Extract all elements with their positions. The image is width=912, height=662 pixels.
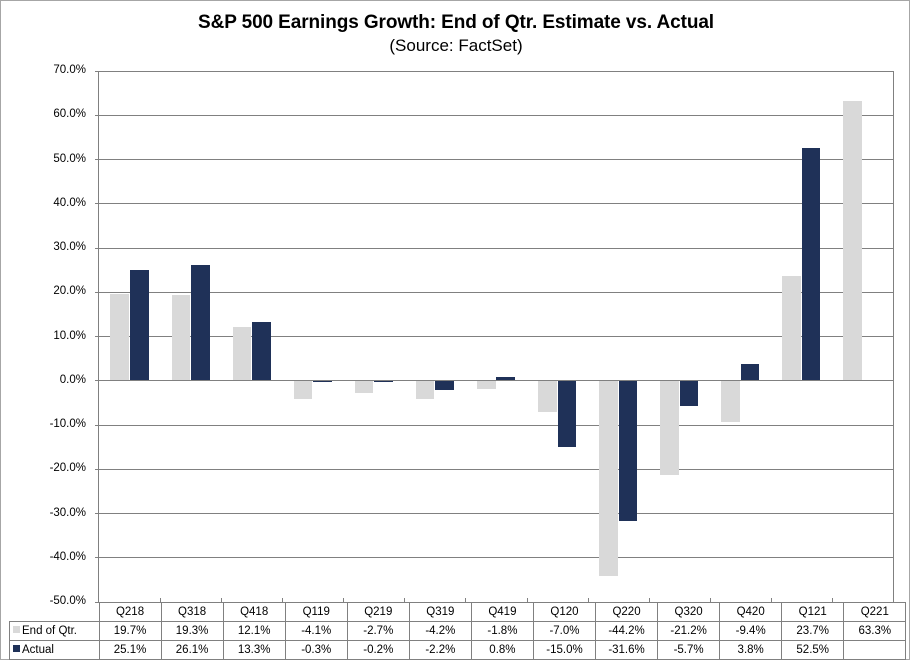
- y-axis-tick-label: 10.0%: [53, 331, 86, 343]
- table-cell: 19.7%: [99, 622, 161, 641]
- data-table-head: Q218Q318Q418Q119Q219Q319Q419Q120Q220Q320…: [10, 603, 906, 622]
- table-header-row: Q218Q318Q418Q119Q219Q319Q419Q120Q220Q320…: [10, 603, 906, 622]
- bar-actual: [252, 322, 271, 381]
- table-header-cell-q120: Q120: [533, 603, 595, 622]
- table-header-cell-q418: Q418: [223, 603, 285, 622]
- table-cell: 0.8%: [471, 641, 533, 660]
- table-cell: -4.1%: [285, 622, 347, 641]
- table-cell: -9.4%: [720, 622, 782, 641]
- gridline: [99, 292, 893, 293]
- legend-label: Actual: [22, 644, 54, 656]
- bar-end-of-qtr: [660, 381, 679, 475]
- table-corner-cell: [10, 603, 100, 622]
- y-axis-tick-mark: [95, 336, 99, 337]
- bar-end-of-qtr: [599, 381, 618, 577]
- table-cell: 52.5%: [782, 641, 844, 660]
- bar-end-of-qtr: [721, 381, 740, 423]
- table-cell: 26.1%: [161, 641, 223, 660]
- table-cell: 3.8%: [720, 641, 782, 660]
- gridline: [99, 425, 893, 426]
- gridline: [99, 336, 893, 337]
- table-header-cell-q319: Q319: [409, 603, 471, 622]
- chart-title-block: S&P 500 Earnings Growth: End of Qtr. Est…: [1, 11, 911, 57]
- y-axis-tick-mark: [95, 248, 99, 249]
- table-cell: -5.7%: [658, 641, 720, 660]
- legend-swatch-icon: [13, 626, 20, 633]
- y-axis-labels: 70.0%60.0%50.0%40.0%30.0%20.0%10.0%0.0%-…: [1, 71, 93, 602]
- bar-actual: [435, 381, 454, 391]
- bar-end-of-qtr: [294, 381, 313, 399]
- table-cell: -0.2%: [347, 641, 409, 660]
- bar-actual: [619, 381, 638, 521]
- y-axis-tick-label: 20.0%: [53, 286, 86, 298]
- bar-end-of-qtr: [110, 294, 129, 381]
- table-cell: -44.2%: [596, 622, 658, 641]
- table-header-cell-q220: Q220: [596, 603, 658, 622]
- legend-entry-actual: Actual: [10, 641, 100, 660]
- gridline: [99, 159, 893, 160]
- table-header-cell-q119: Q119: [285, 603, 347, 622]
- y-axis-tick-mark: [95, 115, 99, 116]
- legend-swatch-icon: [13, 645, 20, 652]
- bar-end-of-qtr: [355, 381, 374, 393]
- gridline: [99, 513, 893, 514]
- table-cell: 13.3%: [223, 641, 285, 660]
- bar-end-of-qtr: [477, 381, 496, 389]
- data-table-body: End of Qtr.19.7%19.3%12.1%-4.1%-2.7%-4.2…: [10, 622, 906, 660]
- table-header-cell-q318: Q318: [161, 603, 223, 622]
- bar-actual: [680, 381, 699, 406]
- y-axis-tick-label: 40.0%: [53, 198, 86, 210]
- y-axis-tick-mark: [95, 71, 99, 72]
- y-axis-tick-label: -10.0%: [50, 419, 86, 431]
- y-axis-tick-label: 30.0%: [53, 242, 86, 254]
- y-axis-tick-mark: [95, 513, 99, 514]
- table-header-cell-q420: Q420: [720, 603, 782, 622]
- zero-axis-line: [99, 380, 893, 381]
- table-cell: -2.2%: [409, 641, 471, 660]
- table-cell: -1.8%: [471, 622, 533, 641]
- table-cell: 25.1%: [99, 641, 161, 660]
- table-header-cell-q419: Q419: [471, 603, 533, 622]
- table-cell: 63.3%: [844, 622, 906, 641]
- gridline: [99, 469, 893, 470]
- legend-label: End of Qtr.: [22, 625, 77, 637]
- y-axis-tick-mark: [95, 203, 99, 204]
- bar-end-of-qtr: [172, 295, 191, 380]
- y-axis-tick-label: 0.0%: [60, 375, 86, 387]
- legend-entry-end-of-qtr: End of Qtr.: [10, 622, 100, 641]
- table-header-cell-q320: Q320: [658, 603, 720, 622]
- plot-area: [98, 71, 894, 602]
- gridline: [99, 557, 893, 558]
- table-cell: -2.7%: [347, 622, 409, 641]
- table-cell: -21.2%: [658, 622, 720, 641]
- y-axis-tick-mark: [95, 469, 99, 470]
- bar-end-of-qtr: [233, 327, 252, 381]
- bar-actual: [558, 381, 577, 447]
- y-axis-tick-mark: [95, 557, 99, 558]
- table-header-cell-q221: Q221: [844, 603, 906, 622]
- y-axis-tick-label: -20.0%: [50, 463, 86, 475]
- chart-title: S&P 500 Earnings Growth: End of Qtr. Est…: [1, 11, 911, 35]
- table-row: Actual25.1%26.1%13.3%-0.3%-0.2%-2.2%0.8%…: [10, 641, 906, 660]
- y-axis-tick-mark: [95, 292, 99, 293]
- table-cell: -7.0%: [533, 622, 595, 641]
- table-header-cell-q219: Q219: [347, 603, 409, 622]
- bar-actual: [191, 265, 210, 380]
- table-cell: -31.6%: [596, 641, 658, 660]
- bar-actual: [741, 364, 760, 381]
- table-cell: -0.3%: [285, 641, 347, 660]
- table-cell: -4.2%: [409, 622, 471, 641]
- gridline: [99, 248, 893, 249]
- y-axis-tick-mark: [95, 425, 99, 426]
- table-cell: -15.0%: [533, 641, 595, 660]
- table-cell: 19.3%: [161, 622, 223, 641]
- table-cell: 23.7%: [782, 622, 844, 641]
- bar-end-of-qtr: [416, 381, 435, 400]
- y-axis-tick-label: -30.0%: [50, 508, 86, 520]
- gridline: [99, 115, 893, 116]
- gridline: [99, 203, 893, 204]
- y-axis-tick-label: 50.0%: [53, 154, 86, 166]
- y-axis-tick-label: 70.0%: [53, 65, 86, 77]
- bar-end-of-qtr: [843, 101, 862, 381]
- table-row: End of Qtr.19.7%19.3%12.1%-4.1%-2.7%-4.2…: [10, 622, 906, 641]
- data-table: Q218Q318Q418Q119Q219Q319Q419Q120Q220Q320…: [9, 602, 906, 660]
- table-header-cell-q218: Q218: [99, 603, 161, 622]
- table-header-cell-q121: Q121: [782, 603, 844, 622]
- bar-actual: [130, 270, 149, 381]
- bar-end-of-qtr: [538, 381, 557, 412]
- y-axis-tick-label: 60.0%: [53, 109, 86, 121]
- chart-container: S&P 500 Earnings Growth: End of Qtr. Est…: [0, 0, 910, 660]
- chart-subtitle: (Source: FactSet): [1, 35, 911, 57]
- y-axis-tick-label: -40.0%: [50, 552, 86, 564]
- bar-end-of-qtr: [782, 276, 801, 381]
- gridline: [99, 71, 893, 72]
- table-cell: 12.1%: [223, 622, 285, 641]
- y-axis-tick-mark: [95, 159, 99, 160]
- bar-actual: [802, 148, 821, 380]
- table-cell: [844, 641, 906, 660]
